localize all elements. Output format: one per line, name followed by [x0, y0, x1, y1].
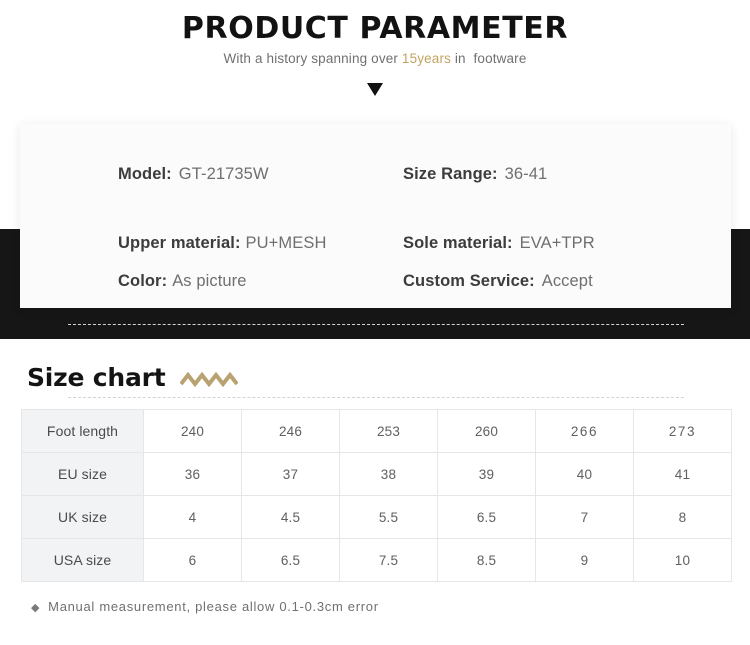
spec-value: Accept: [542, 272, 593, 291]
table-cell: 260: [438, 410, 536, 453]
spec-value: As picture: [172, 272, 246, 291]
spec-value: GT-21735W: [179, 165, 269, 184]
row-header-usa-size: USA size: [22, 539, 144, 582]
table-cell: 4.5: [242, 496, 340, 539]
table-cell: 36: [144, 453, 242, 496]
subtitle-highlight: 15years: [402, 51, 451, 66]
table-cell: 37: [242, 453, 340, 496]
table-row: UK size 4 4.5 5.5 6.5 7 8: [22, 496, 732, 539]
spec-divider: [68, 324, 684, 325]
spec-label: Sole material:: [403, 234, 513, 253]
spec-item-custom-service: Custom Service: Accept: [403, 255, 731, 307]
row-header-eu-size: EU size: [22, 453, 144, 496]
subtitle-text-after: in footware: [451, 51, 527, 66]
table-cell: 6.5: [438, 496, 536, 539]
product-spec-card: Model: GT-21735W Size Range: 36-41 Upper…: [20, 124, 731, 308]
page-title: PRODUCT PARAMETER: [0, 11, 750, 47]
spec-item-color: Color: As picture: [20, 255, 403, 307]
table-cell: 7: [536, 496, 634, 539]
spec-label: Upper material:: [118, 234, 241, 253]
table-cell: 253: [340, 410, 438, 453]
spec-value: EVA+TPR: [520, 234, 595, 253]
table-cell: 4: [144, 496, 242, 539]
table-row: EU size 36 37 38 39 40 41: [22, 453, 732, 496]
table-row: Foot length 240 246 253 260 266 273: [22, 410, 732, 453]
size-chart-title: Size chart: [27, 363, 166, 393]
table-cell: 5.5: [340, 496, 438, 539]
table-cell: 246: [242, 410, 340, 453]
size-chart-table: Foot length 240 246 253 260 266 273 EU s…: [21, 409, 732, 582]
product-parameter-page: PRODUCT PARAMETER With a history spannin…: [0, 0, 750, 645]
row-header-foot-length: Foot length: [22, 410, 144, 453]
diamond-bullet-icon: ◆: [31, 602, 40, 614]
spec-row: Model: GT-21735W Size Range: 36-41: [20, 148, 731, 200]
footnote-text: Manual measurement, please allow 0.1-0.3…: [48, 599, 379, 614]
table-cell: 273: [634, 410, 732, 453]
spec-value: 36-41: [505, 165, 548, 184]
table-cell: 240: [144, 410, 242, 453]
table-cell: 41: [634, 453, 732, 496]
spec-row: Color: As picture Custom Service: Accept: [20, 255, 731, 307]
subtitle-text-before: With a history spanning over: [223, 51, 401, 66]
table-cell: 10: [634, 539, 732, 582]
spec-label: Model:: [118, 165, 172, 184]
table-cell: 7.5: [340, 539, 438, 582]
table-cell: 6.5: [242, 539, 340, 582]
table-row: USA size 6 6.5 7.5 8.5 9 10: [22, 539, 732, 582]
zigzag-wave-icon: [180, 372, 238, 388]
spec-label: Color:: [118, 272, 167, 291]
table-cell: 9: [536, 539, 634, 582]
table-cell: 266: [536, 410, 634, 453]
table-cell: 8.5: [438, 539, 536, 582]
spec-divider: [68, 397, 684, 398]
size-chart-heading: Size chart: [27, 363, 238, 393]
table-cell: 39: [438, 453, 536, 496]
spec-label: Custom Service:: [403, 272, 535, 291]
table-cell: 6: [144, 539, 242, 582]
table-cell: 8: [634, 496, 732, 539]
table-cell: 40: [536, 453, 634, 496]
spec-item-size-range: Size Range: 36-41: [403, 148, 731, 200]
scroll-down-arrow: [0, 81, 750, 97]
spec-label: Size Range:: [403, 165, 498, 184]
chevron-down-triangle-icon: [365, 81, 385, 97]
measurement-footnote: ◆Manual measurement, please allow 0.1-0.…: [31, 599, 379, 614]
row-header-uk-size: UK size: [22, 496, 144, 539]
table-cell: 38: [340, 453, 438, 496]
spec-item-model: Model: GT-21735W: [20, 148, 403, 200]
spec-value: PU+MESH: [246, 234, 327, 253]
page-subtitle: With a history spanning over 15years in …: [0, 50, 750, 68]
